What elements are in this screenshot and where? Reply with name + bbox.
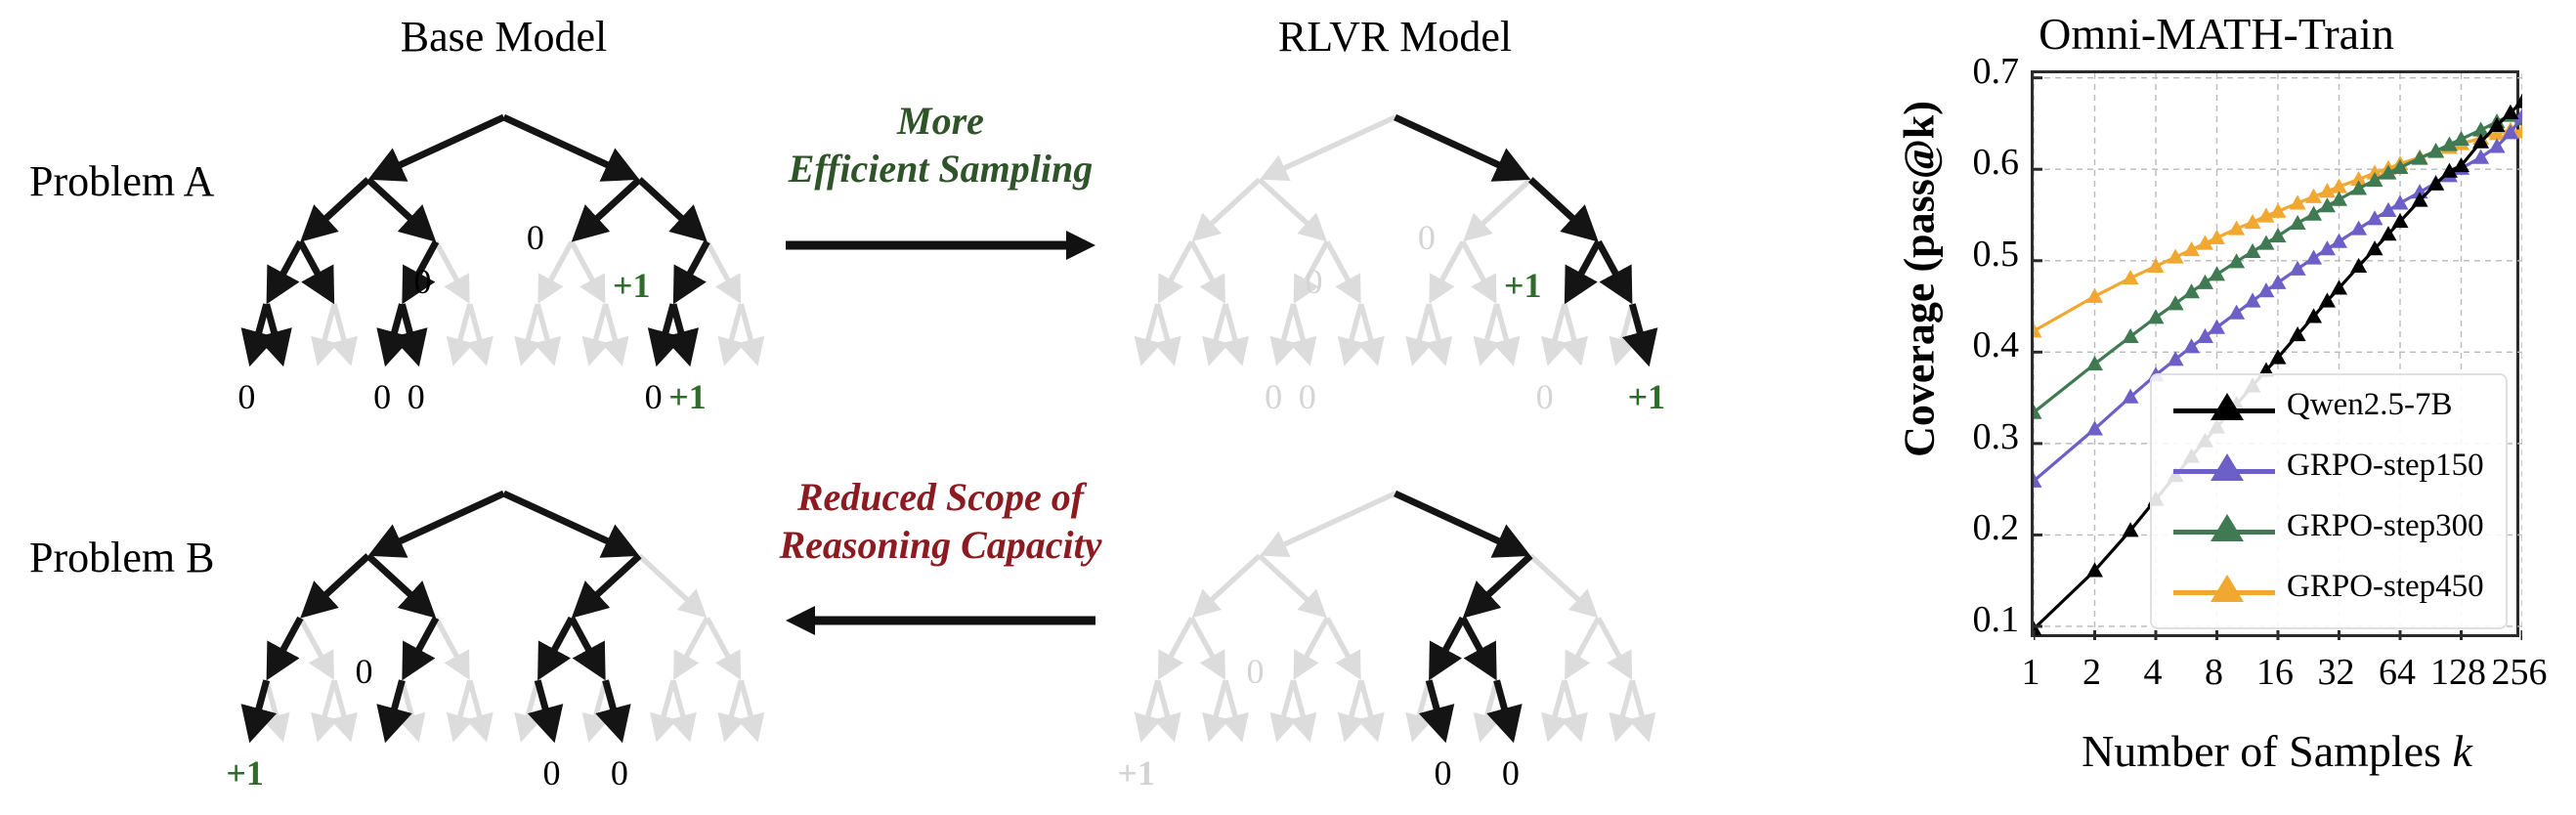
row-label-problem-a: Problem A <box>29 156 214 206</box>
tree-problem-b-rlvr-value-1: +1 <box>1117 752 1155 794</box>
tree-problem-b-base-value-3: 0 <box>611 752 628 794</box>
chart-y-tick-0.1: 0.1 <box>1911 598 2019 641</box>
annotation-line2-2: Reasoning Capacity <box>772 522 1109 570</box>
legend-item-GRPO-step150[interactable]: GRPO-step150 <box>2162 442 2504 500</box>
tree-problem-a-base-value-0: 0 <box>527 217 544 258</box>
chart-y-tick-0.6: 0.6 <box>1911 141 2019 184</box>
legend-marker-GRPO-step450 <box>2211 575 2244 602</box>
figure-root: 00+10000+100+1000+10+1000+100Base ModelR… <box>0 0 2576 815</box>
legend-item-Qwen2.5-7B[interactable]: Qwen2.5-7B <box>2162 381 2504 440</box>
annotation-arrow-2 <box>772 598 1109 643</box>
column-title-base-model: Base Model <box>250 12 758 62</box>
tree-problem-a-rlvr-value-3: 0 <box>1265 376 1282 417</box>
chart-y-tick-0.3: 0.3 <box>1911 415 2019 458</box>
tree-problem-a-base <box>203 88 804 396</box>
chart-y-tick-0.4: 0.4 <box>1911 323 2019 366</box>
tree-problem-a-rlvr-value-4: 0 <box>1299 376 1316 417</box>
tree-problem-b-base-value-0: 0 <box>355 651 372 692</box>
annotation-line1-2: Reduced Scope of <box>772 474 1109 522</box>
legend-marker-Qwen2.5-7B <box>2211 393 2244 420</box>
tree-problem-a-base-value-6: 0 <box>645 376 663 417</box>
legend-marker-GRPO-step300 <box>2211 514 2244 541</box>
chart-x-axis-label: Number of Samples k <box>1974 725 2576 777</box>
legend-label-GRPO-step150: GRPO-step150 <box>2287 448 2484 484</box>
annotation-line2-1: Efficient Sampling <box>772 146 1109 193</box>
annotation-1: MoreEfficient Sampling <box>772 98 1109 193</box>
tree-problem-b-rlvr <box>1095 464 1696 772</box>
chart-y-tick-0.5: 0.5 <box>1911 233 2019 276</box>
tree-problem-a-base-value-7: +1 <box>668 376 707 417</box>
chart-y-tick-0.7: 0.7 <box>1911 50 2019 93</box>
tree-problem-a-rlvr-value-5: 0 <box>1536 376 1554 417</box>
column-title-rlvr-model: RLVR Model <box>1141 12 1650 62</box>
annotation-arrow-1 <box>772 223 1109 268</box>
tree-problem-b-rlvr-value-0: 0 <box>1246 651 1264 692</box>
tree-problem-b-base-value-2: 0 <box>543 752 561 794</box>
tree-problem-a-rlvr-value-1: 0 <box>1305 261 1322 302</box>
tree-problem-a-base-value-1: 0 <box>413 261 431 302</box>
tree-problem-b-rlvr-value-3: 0 <box>1502 752 1520 794</box>
row-label-problem-b: Problem B <box>29 533 214 582</box>
tree-problem-a-rlvr-value-0: 0 <box>1418 217 1436 258</box>
legend-marker-GRPO-step150 <box>2211 453 2244 481</box>
tree-problem-a-rlvr-value-6: +1 <box>1628 376 1666 417</box>
tree-problem-a-base-value-2: +1 <box>613 265 651 306</box>
tree-problem-b-base-value-1: +1 <box>226 752 264 794</box>
tree-problem-a-rlvr <box>1095 88 1696 396</box>
tree-problem-b-base <box>203 464 804 772</box>
legend-label-GRPO-step300: GRPO-step300 <box>2287 508 2484 544</box>
tree-problem-a-base-value-3: 0 <box>237 376 255 417</box>
tree-problem-a-base-value-5: 0 <box>408 376 425 417</box>
legend-item-GRPO-step300[interactable]: GRPO-step300 <box>2162 502 2504 561</box>
chart-legend: Qwen2.5-7BGRPO-step150GRPO-step300GRPO-s… <box>2150 373 2508 629</box>
tree-problem-b-rlvr-value-2: 0 <box>1435 752 1452 794</box>
legend-item-GRPO-step450[interactable]: GRPO-step450 <box>2162 563 2504 622</box>
annotation-line1-1: More <box>772 98 1109 146</box>
chart-x-tick-256: 256 <box>2480 651 2558 694</box>
chart-y-tick-0.2: 0.2 <box>1911 506 2019 549</box>
tree-problem-a-rlvr-value-2: +1 <box>1504 265 1542 306</box>
legend-label-Qwen2.5-7B: Qwen2.5-7B <box>2287 387 2453 423</box>
tree-problem-a-base-value-4: 0 <box>373 376 391 417</box>
annotation-2: Reduced Scope ofReasoning Capacity <box>772 474 1109 570</box>
coverage-chart: Omni-MATH-TrainCoverage (pass@k)Number o… <box>1857 0 2576 815</box>
legend-label-GRPO-step450: GRPO-step450 <box>2287 569 2484 605</box>
